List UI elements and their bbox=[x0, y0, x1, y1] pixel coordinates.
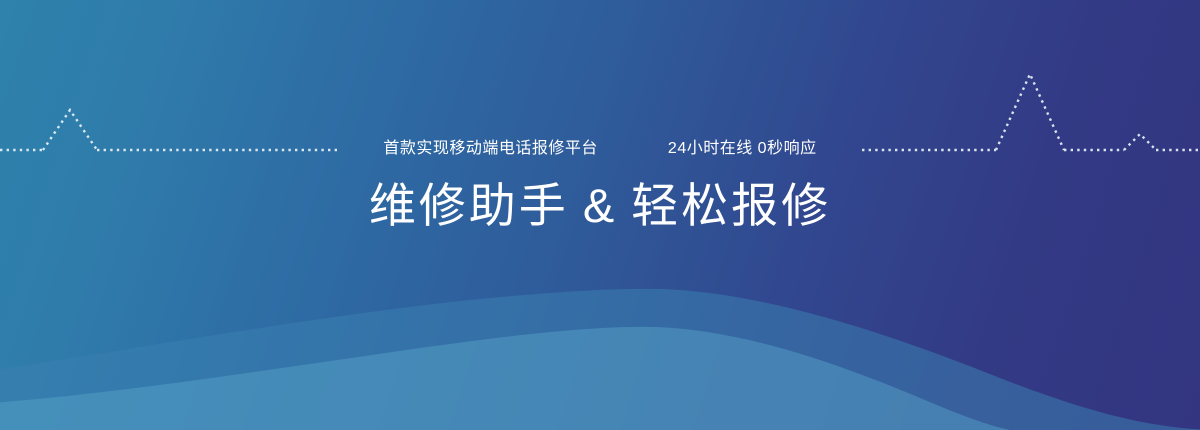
banner-content: 首款实现移动端电话报修平台 24小时在线 0秒响应 维修助手&轻松报修 bbox=[0, 0, 1200, 430]
headline-left: 维修助手 bbox=[369, 179, 569, 232]
page-title: 维修助手&轻松报修 bbox=[0, 178, 1200, 234]
headline-right: 轻松报修 bbox=[631, 179, 831, 232]
subtitle-right: 24小时在线 0秒响应 bbox=[668, 139, 817, 159]
subtitle-row: 首款实现移动端电话报修平台 24小时在线 0秒响应 bbox=[0, 139, 1200, 159]
headline-ampersand: & bbox=[569, 179, 631, 232]
subtitle-left: 首款实现移动端电话报修平台 bbox=[383, 139, 598, 159]
promo-banner: 首款实现移动端电话报修平台 24小时在线 0秒响应 维修助手&轻松报修 bbox=[0, 0, 1200, 430]
